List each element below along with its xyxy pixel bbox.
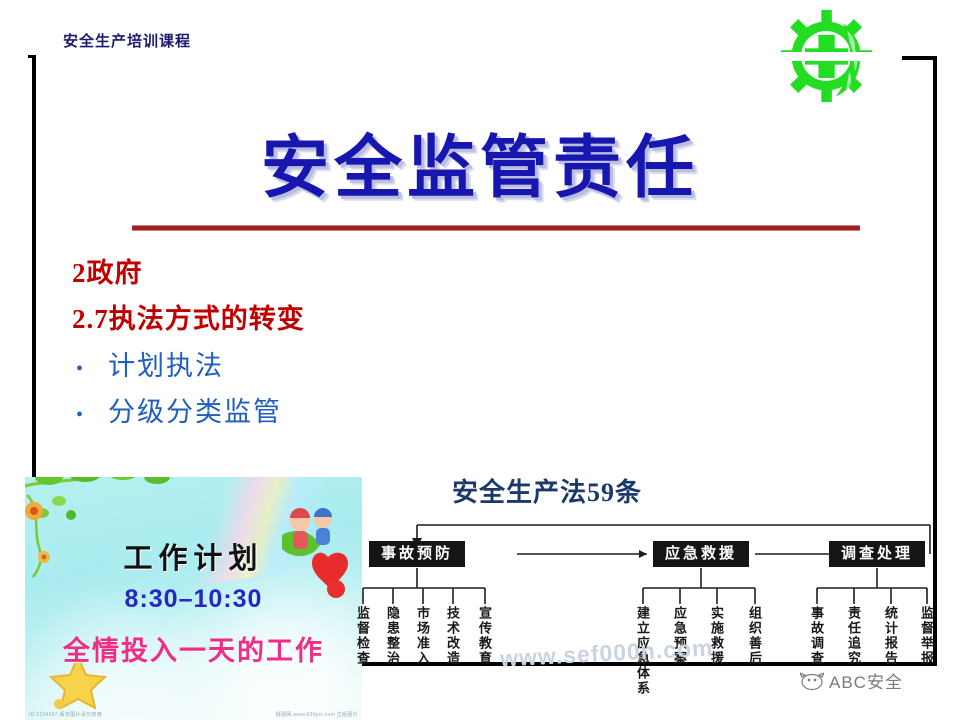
flow-leaf-label: 组织善后	[748, 606, 761, 666]
body-text-block: 2政府 2.7执法方式的转变 • 计划执法 • 分级分类监管	[72, 250, 492, 436]
bullet-label: 分级分类监管	[108, 389, 282, 435]
bullet-dot-icon: •	[72, 352, 108, 386]
flow-leaf-label: 宣传教育	[478, 606, 491, 666]
image-footer-left-credit: ID:1234567 版权图片请勿商用	[29, 711, 102, 718]
flow-leaf-label: 市场准入	[416, 606, 429, 666]
bullet-dot-icon: •	[72, 398, 108, 432]
cartoon-face-icon	[800, 671, 824, 691]
work-plan-slogan: 全情投入一天的工作	[25, 629, 362, 668]
page-title: 安全监管责任	[0, 112, 960, 211]
subsection-title-label: 2.7执法方式的转变	[72, 296, 492, 342]
course-header-label: 安全生产培训课程	[63, 30, 191, 51]
diagram-heading: 安全生产法59条	[452, 472, 642, 509]
bullet-label: 计划执法	[108, 343, 224, 389]
title-divider-line	[132, 225, 860, 231]
work-plan-picture: 工作计划 8:30–10:30 全情投入一天的工作 ID:1234567 版权图…	[25, 477, 362, 720]
section-number-label: 2政府	[72, 250, 492, 296]
image-footer-right-credit: 摄图网 www.699pic.com 正版图片	[276, 711, 358, 718]
brand-watermark-label: ABC安全	[829, 668, 903, 693]
list-item: • 分级分类监管	[72, 389, 492, 435]
flow-leaf-label: 统计报告	[884, 606, 897, 666]
flow-leaf-label: 监督检查	[356, 606, 369, 666]
list-item: • 计划执法	[72, 343, 492, 389]
flow-leaf-label: 监督举报	[920, 606, 933, 666]
work-plan-title: 工作计划	[25, 535, 362, 577]
flow-stage-box[interactable]: 调查处理	[829, 541, 925, 567]
flow-stage-box[interactable]: 事故预防	[369, 541, 465, 567]
flow-leaf-label: 隐患整治	[386, 606, 399, 666]
flow-leaf-label: 技术改造	[446, 606, 459, 666]
work-plan-time: 8:30–10:30	[25, 585, 362, 614]
flow-stage-box[interactable]: 应急救援	[653, 541, 749, 567]
flow-leaf-label: 责任追究	[847, 606, 860, 666]
brand-watermark: ABC安全	[800, 668, 903, 693]
frame-top-gap	[36, 52, 902, 61]
flow-leaf-label: 事故调查	[810, 606, 823, 666]
